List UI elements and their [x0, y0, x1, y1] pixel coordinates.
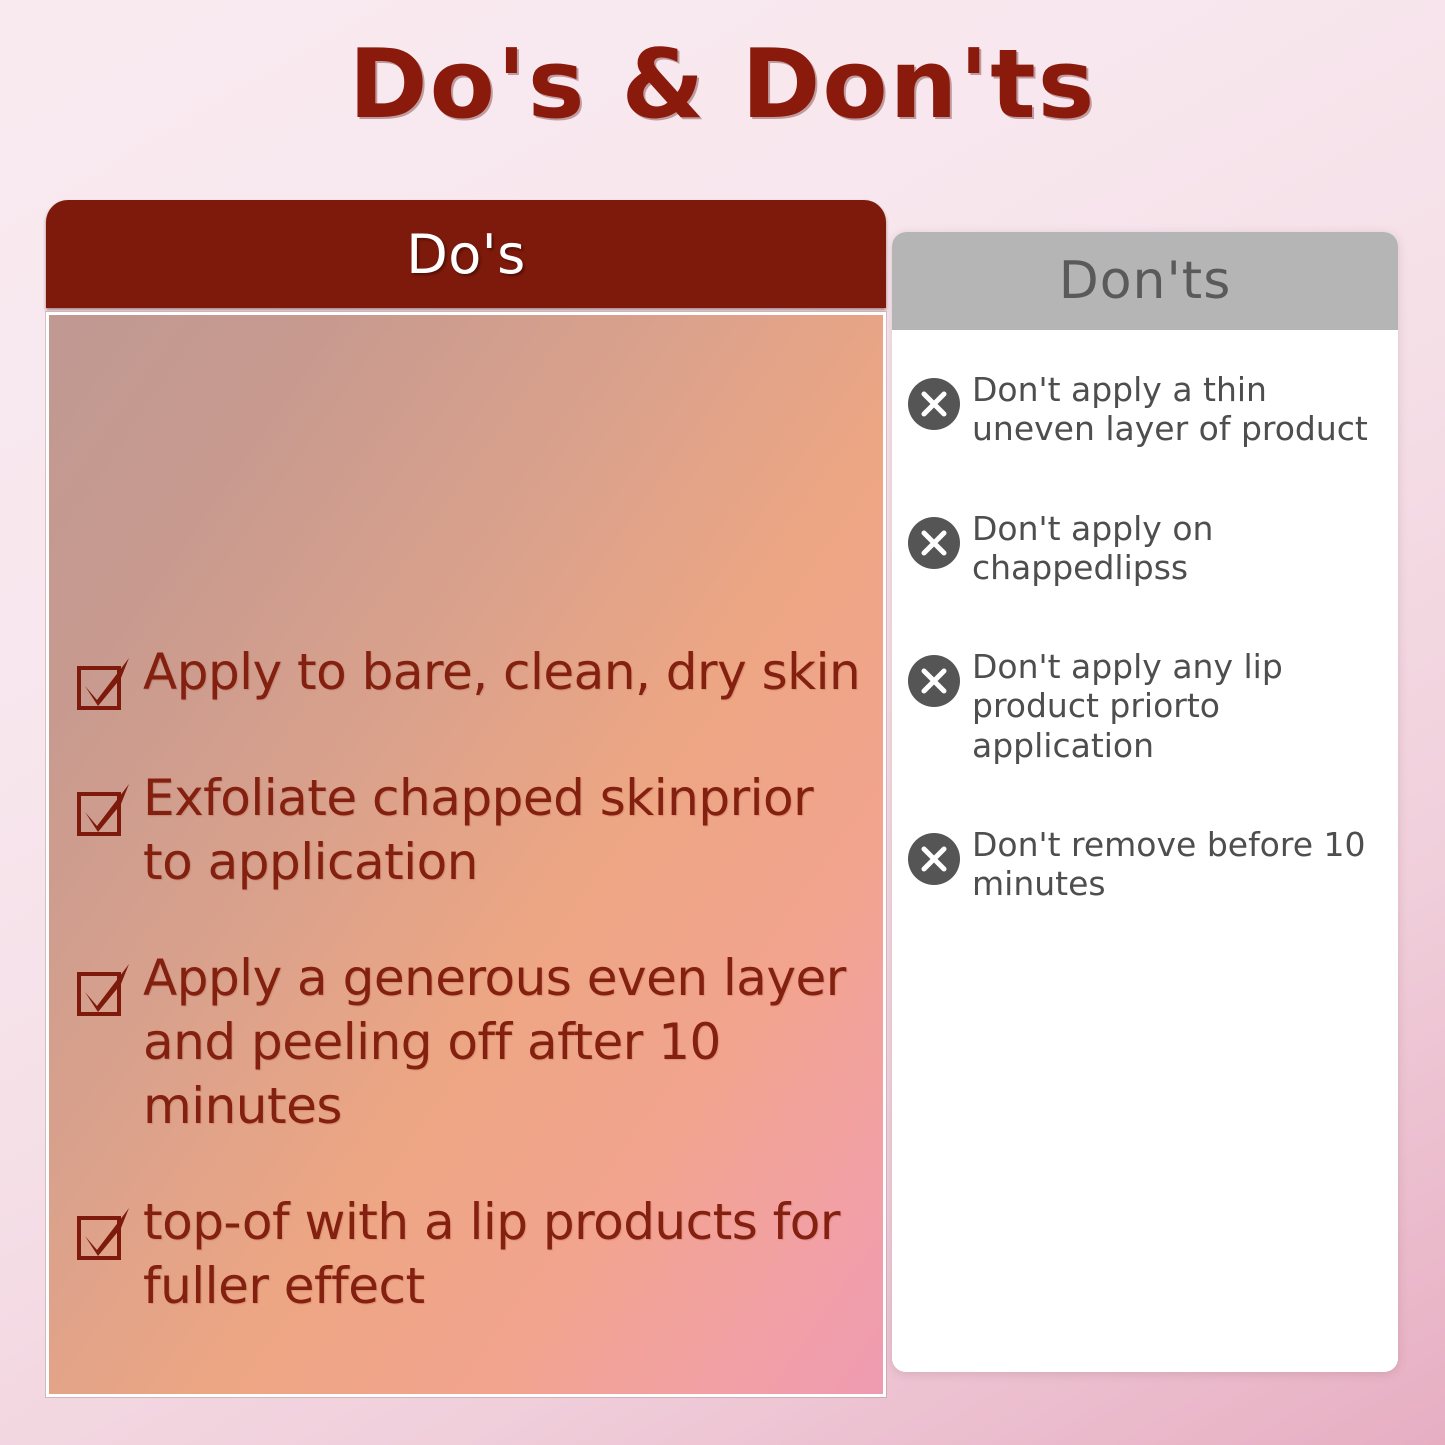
checkbox-check-icon — [73, 778, 135, 840]
circle-x-icon — [906, 653, 962, 709]
checkbox-check-icon — [73, 1202, 135, 1264]
checkbox-check-icon — [73, 652, 135, 714]
list-item-label: Don't apply any lip product priorto appl… — [972, 647, 1392, 765]
dos-header-label: Do's — [406, 223, 526, 286]
dos-list: Apply to bare, clean, dry skin Exfoliate… — [73, 640, 873, 1370]
list-item: Apply to bare, clean, dry skin — [73, 640, 873, 714]
list-item: Don't remove before 10 minutes — [906, 825, 1398, 904]
circle-x-icon — [906, 376, 962, 432]
dos-body: Apply to bare, clean, dry skin Exfoliate… — [46, 312, 886, 1397]
list-item: top-of with a lip products for fuller ef… — [73, 1190, 873, 1318]
donts-header-label: Don'ts — [1059, 251, 1232, 311]
list-item-label: Exfoliate chapped skinprior to applicati… — [143, 766, 873, 894]
dos-panel: Do's Apply to bare, clean, dry skin — [46, 200, 886, 1397]
donts-header: Don'ts — [892, 232, 1398, 330]
list-item: Exfoliate chapped skinprior to applicati… — [73, 766, 873, 894]
list-item-label: Don't remove before 10 minutes — [972, 825, 1392, 904]
list-item-label: Don't apply a thin uneven layer of produ… — [972, 370, 1392, 449]
list-item: Don't apply on chappedlipss — [906, 509, 1398, 588]
list-item: Apply a generous even layer and peeling … — [73, 946, 873, 1138]
circle-x-icon — [906, 831, 962, 887]
list-item-label: top-of with a lip products for fuller ef… — [143, 1190, 873, 1318]
list-item-label: Don't apply on chappedlipss — [972, 509, 1392, 588]
list-item-label: Apply to bare, clean, dry skin — [143, 640, 860, 704]
list-item: Don't apply any lip product priorto appl… — [906, 647, 1398, 765]
donts-list: Don't apply a thin uneven layer of produ… — [906, 370, 1398, 963]
list-item: Don't apply a thin uneven layer of produ… — [906, 370, 1398, 449]
circle-x-icon — [906, 515, 962, 571]
list-item-label: Apply a generous even layer and peeling … — [143, 946, 873, 1138]
donts-panel: Don'ts Don't apply a thin uneven layer o… — [892, 232, 1398, 1372]
infographic-canvas: Do's & Don'ts Don'ts Don't apply a thin … — [0, 0, 1445, 1445]
page-title: Do's & Don'ts — [0, 36, 1445, 136]
checkbox-check-icon — [73, 958, 135, 1020]
dos-header: Do's — [46, 200, 886, 308]
